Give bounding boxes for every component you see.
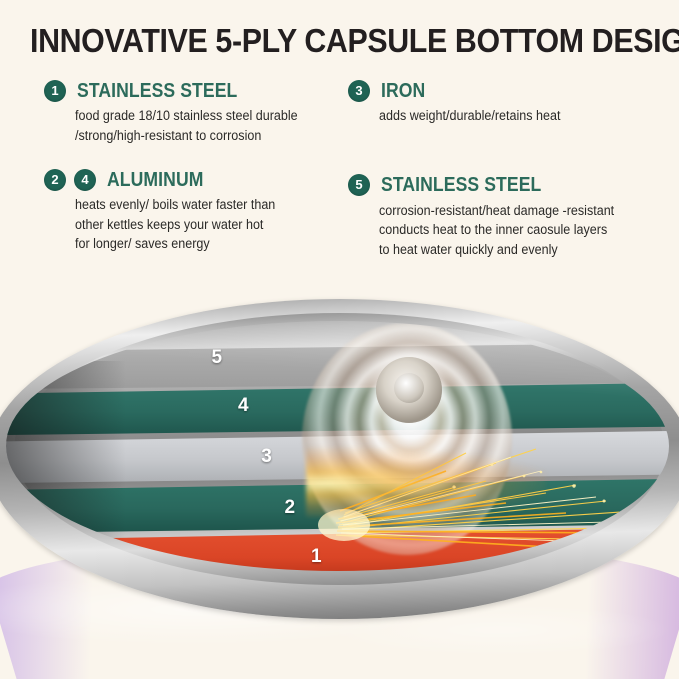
feature-column-left: 1 STAINLESS STEEL food grade 18/10 stain… <box>44 78 359 268</box>
layer-number-3: 3 <box>261 446 272 468</box>
capsule-layer-cutaway: 5 4 3 2 1 <box>6 321 669 571</box>
feature-heading-label: STAINLESS STEEL <box>381 174 541 196</box>
feature-description: heats evenly/ boils water faster than ot… <box>75 195 339 254</box>
badge-number-2: 2 <box>44 169 66 191</box>
feature-item-stainless-steel-1: 1 STAINLESS STEEL food grade 18/10 stain… <box>44 78 359 145</box>
info-section: INNOVATIVE 5-PLY CAPSULE BOTTOM DESIGN 1… <box>0 0 679 292</box>
badge-number-4: 4 <box>74 169 96 191</box>
feature-columns: 1 STAINLESS STEEL food grade 18/10 stain… <box>0 78 679 288</box>
feature-heading-row: 2 4 ALUMINUM <box>44 167 359 192</box>
feature-heading-label: IRON <box>381 80 425 102</box>
feature-description: adds weight/durable/retains heat <box>379 106 652 126</box>
layer-number-5: 5 <box>212 347 223 369</box>
badge-number-3: 3 <box>348 80 370 102</box>
feature-description: corrosion-resistant/heat damage -resista… <box>379 201 652 260</box>
spark-hotspot-glow <box>306 447 546 517</box>
feature-description: food grade 18/10 stainless steel durable… <box>75 106 339 145</box>
feature-heading-label: ALUMINUM <box>107 169 204 191</box>
badge-number-5: 5 <box>348 174 370 196</box>
feature-column-right: 3 IRON adds weight/durable/retains heat … <box>348 78 673 273</box>
feature-item-iron: 3 IRON adds weight/durable/retains heat <box>348 78 673 126</box>
layer-number-4: 4 <box>238 395 249 417</box>
feature-heading-row: 5 STAINLESS STEEL <box>348 173 673 198</box>
feature-heading-row: 3 IRON <box>348 78 673 103</box>
feature-heading-label: STAINLESS STEEL <box>77 80 237 102</box>
layer-slab-1: 1 <box>6 528 669 571</box>
feature-item-aluminum: 2 4 ALUMINUM heats evenly/ boils water f… <box>44 167 359 254</box>
layer-slab-4: 4 <box>6 383 669 435</box>
feature-heading-row: 1 STAINLESS STEEL <box>44 78 359 103</box>
page-title: INNOVATIVE 5-PLY CAPSULE BOTTOM DESIGN <box>30 22 605 60</box>
badge-number-1: 1 <box>44 80 66 102</box>
infographic-page: INNOVATIVE 5-PLY CAPSULE BOTTOM DESIGN 1… <box>0 0 679 679</box>
layer-number-1: 1 <box>311 546 322 568</box>
product-photo: 5 4 3 2 1 <box>0 285 679 679</box>
layer-number-2: 2 <box>284 497 295 519</box>
feature-item-stainless-steel-5: 5 STAINLESS STEEL corrosion-resistant/he… <box>348 173 673 260</box>
